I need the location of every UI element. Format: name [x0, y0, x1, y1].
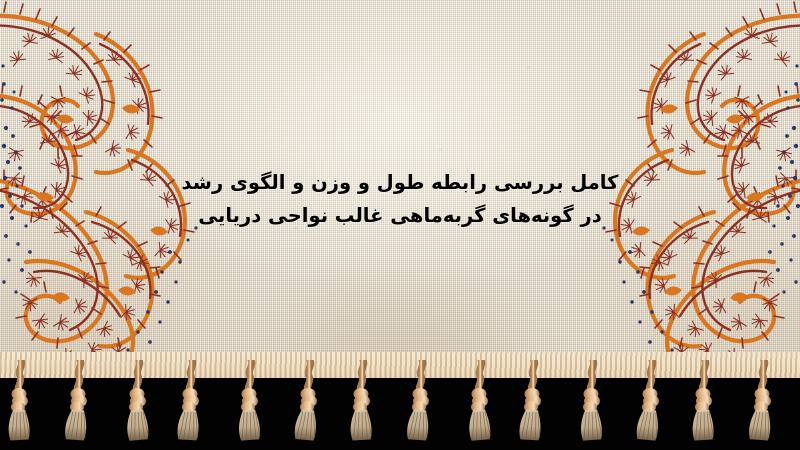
fabric-selvage-edge — [0, 352, 800, 378]
title-line-2: در گونه‌های گربه‌ماهی غالب نواحی دریایی — [0, 199, 800, 232]
title-block: کامل بررسی رابطه طول و وزن و الگوی رشد د… — [0, 166, 800, 232]
black-background-field — [0, 374, 800, 450]
title-line-1: کامل بررسی رابطه طول و وزن و الگوی رشد — [0, 166, 800, 199]
title-card: کامل بررسی رابطه طول و وزن و الگوی رشد د… — [0, 0, 800, 450]
